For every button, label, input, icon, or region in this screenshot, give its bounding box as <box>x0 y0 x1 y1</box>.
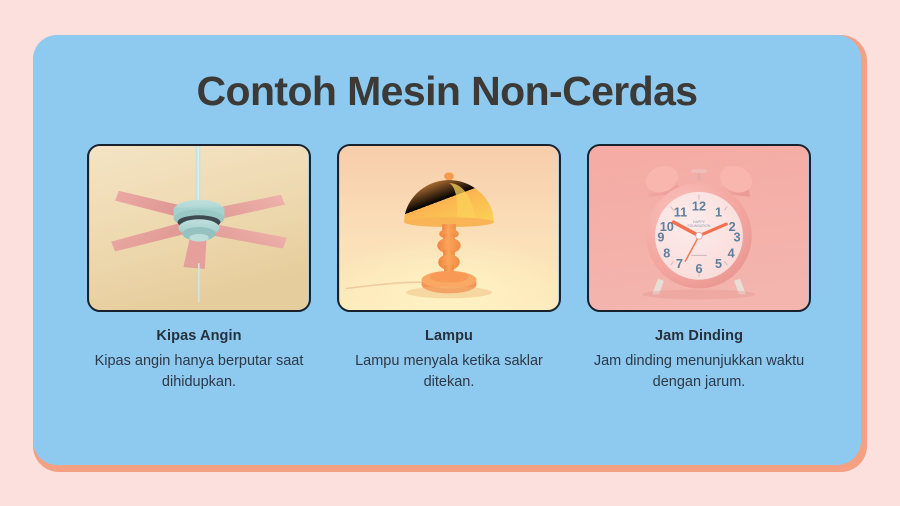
svg-text:12: 12 <box>692 199 706 213</box>
svg-text:FOUNDATION: FOUNDATION <box>688 224 711 228</box>
cards-row: Kipas Angin Kipas angin hanya berputar s… <box>33 144 861 393</box>
svg-text:10: 10 <box>660 220 674 234</box>
card-description-jam-dinding: Jam dinding menunjukkan waktu dengan jar… <box>592 351 807 393</box>
svg-text:5: 5 <box>715 257 722 271</box>
svg-text:4: 4 <box>728 246 735 260</box>
alarm-clock-image: 12 1 2 3 4 5 6 7 8 9 10 11 <box>587 144 811 312</box>
svg-text:6: 6 <box>695 262 702 276</box>
card-lampu[interactable]: Lampu Lampu menyala ketika saklar diteka… <box>337 144 561 393</box>
card-kipas-angin[interactable]: Kipas Angin Kipas angin hanya berputar s… <box>87 144 311 393</box>
card-title-kipas-angin: Kipas Angin <box>156 328 241 344</box>
card-description-lampu: Lampu menyala ketika saklar ditekan. <box>342 351 557 393</box>
ceiling-fan-image <box>87 144 311 312</box>
card-jam-dinding[interactable]: 12 1 2 3 4 5 6 7 8 9 10 11 <box>587 144 811 393</box>
svg-text:7: 7 <box>676 257 683 271</box>
card-description-kipas-angin: Kipas angin hanya berputar saat dihidupk… <box>92 351 307 393</box>
svg-text:8: 8 <box>663 246 670 260</box>
card-title-lampu: Lampu <box>425 328 473 344</box>
page-title: Contoh Mesin Non-Cerdas <box>197 70 698 113</box>
table-lamp-image <box>337 144 561 312</box>
svg-text:3: 3 <box>734 231 741 245</box>
svg-text:11: 11 <box>674 205 687 219</box>
svg-text:1: 1 <box>715 205 722 219</box>
slide-panel: Contoh Mesin Non-Cerdas <box>33 35 861 465</box>
panel-content: Contoh Mesin Non-Cerdas <box>33 35 861 465</box>
card-title-jam-dinding: Jam Dinding <box>655 328 743 344</box>
